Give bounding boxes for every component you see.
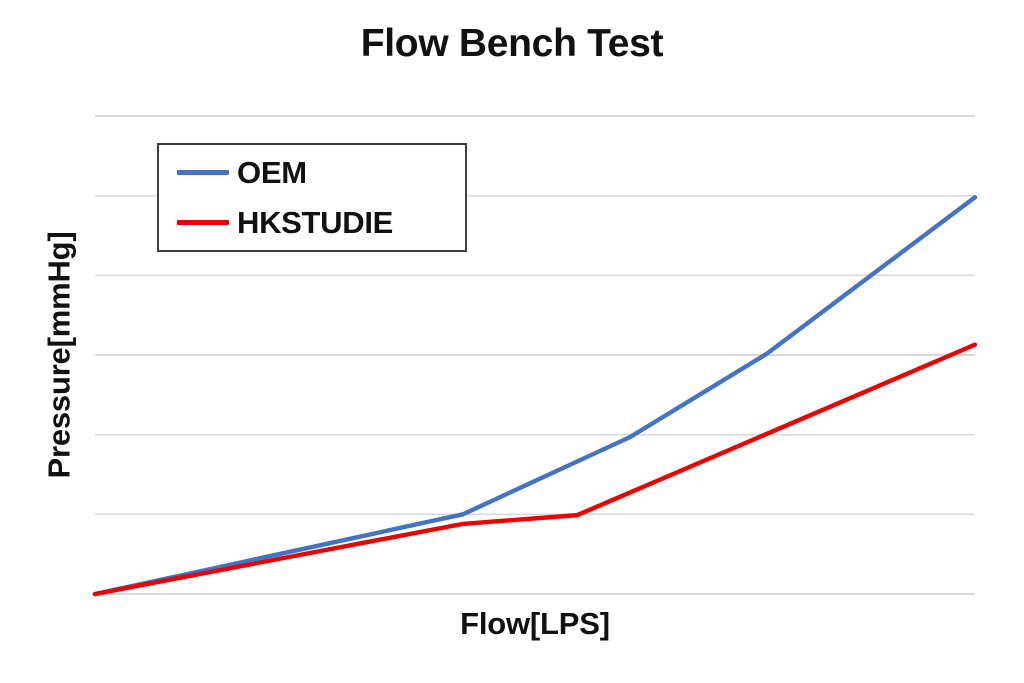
flow-bench-test-chart: Flow Bench Test Pressure[mmHg] Flow[LPS]… — [0, 0, 1024, 683]
series-line-hkstudie — [95, 345, 975, 594]
legend-item-hkstudie[interactable]: HKSTUDIE — [177, 198, 465, 248]
y-axis-label-container: Pressure[mmHg] — [28, 116, 90, 594]
chart-legend: OEM HKSTUDIE — [157, 143, 467, 252]
legend-label-oem: OEM — [237, 155, 307, 191]
chart-title: Flow Bench Test — [0, 24, 1024, 65]
y-axis-label: Pressure[mmHg] — [41, 231, 77, 478]
x-axis-label: Flow[LPS] — [95, 606, 975, 642]
legend-swatch-hkstudie — [177, 220, 229, 225]
legend-label-hkstudie: HKSTUDIE — [237, 205, 393, 241]
legend-swatch-oem — [177, 170, 229, 175]
legend-item-oem[interactable]: OEM — [177, 148, 465, 198]
series-line-oem — [95, 197, 975, 594]
